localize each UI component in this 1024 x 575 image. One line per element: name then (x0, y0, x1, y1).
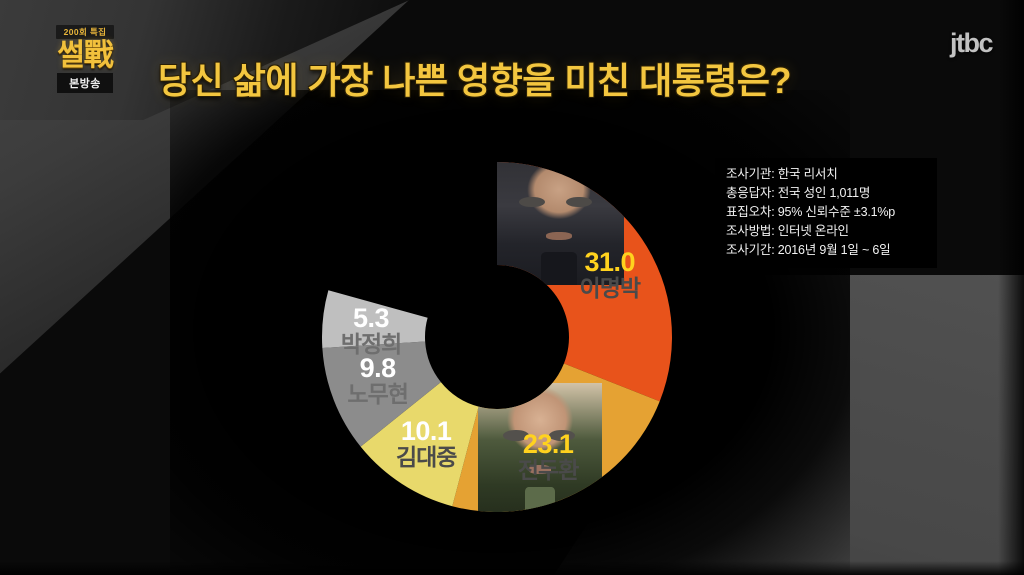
program-logo: 200회 특집 썰戰 본방송 (33, 22, 137, 104)
survey-info-box: 조사기관: 한국 리서치 총응답자: 전국 성인 1,011명 표집오차: 95… (715, 158, 937, 268)
page-title: 당신 삶에 가장 나쁜 영향을 미친 대통령은? (158, 52, 791, 104)
survey-info-row-margin: 표집오차: 95% 신뢰수준 ±3.1%p (726, 203, 928, 222)
donut-chart: 31.0 이명박 23.1 전두환 10.1 김대중 9.8 노무현 5.3 박… (292, 133, 702, 543)
program-logo-ribbon: 200회 특집 (56, 25, 115, 39)
background-edge-right (998, 0, 1024, 575)
broadcast-graphic: 200회 특집 썰戰 본방송 jtbc 당신 삶에 가장 나쁜 영향을 미친 대… (0, 0, 1024, 575)
jtbc-logo: jtbc (950, 28, 992, 59)
survey-info-row-method: 조사방법: 인터넷 온라인 (726, 222, 928, 241)
survey-info-row-respondents: 총응답자: 전국 성인 1,011명 (726, 184, 928, 203)
program-logo-title: 썰戰 (33, 41, 137, 71)
survey-info-row-agency: 조사기관: 한국 리서치 (726, 165, 928, 184)
survey-info-row-period: 조사기간: 2016년 9월 1일 ~ 6일 (726, 241, 928, 260)
donut-slice[interactable] (322, 290, 428, 348)
background-edge-bottom (0, 561, 1024, 575)
program-logo-badge: 본방송 (57, 73, 113, 93)
